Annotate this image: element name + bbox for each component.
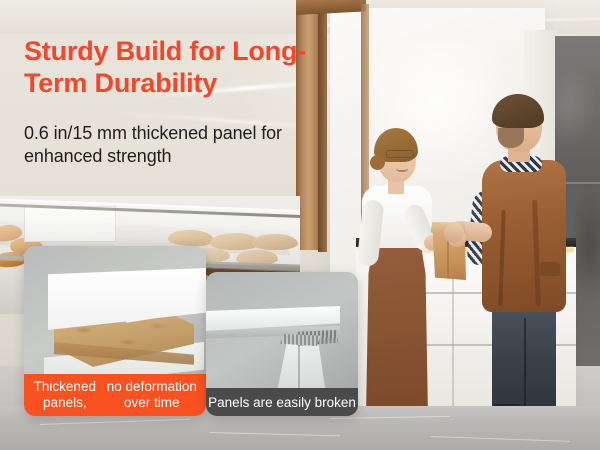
caption-line-2: no deformation over time (102, 379, 202, 412)
caption-panels-easily-broken: Panels are easily broken (206, 388, 358, 416)
subheadline: 0.6 in/15 mm thickened panel for enhance… (24, 122, 342, 169)
promo-banner: Sturdy Build for Long-Term Durability 0.… (0, 0, 600, 450)
caption-thickened-panels: Thickened panels, no deformation over ti… (24, 374, 206, 416)
customer-vest-pocket (540, 262, 560, 276)
staff-glasses (386, 150, 414, 158)
caption-line-1: Thickened panels, (28, 379, 102, 412)
headline: Sturdy Build for Long-Term Durability (24, 36, 354, 99)
customer-vest (482, 160, 566, 312)
customer-leg-separation (524, 318, 526, 418)
staff-hair-bun (370, 155, 385, 170)
staff-smile (396, 166, 408, 172)
customer-beard (498, 128, 524, 148)
